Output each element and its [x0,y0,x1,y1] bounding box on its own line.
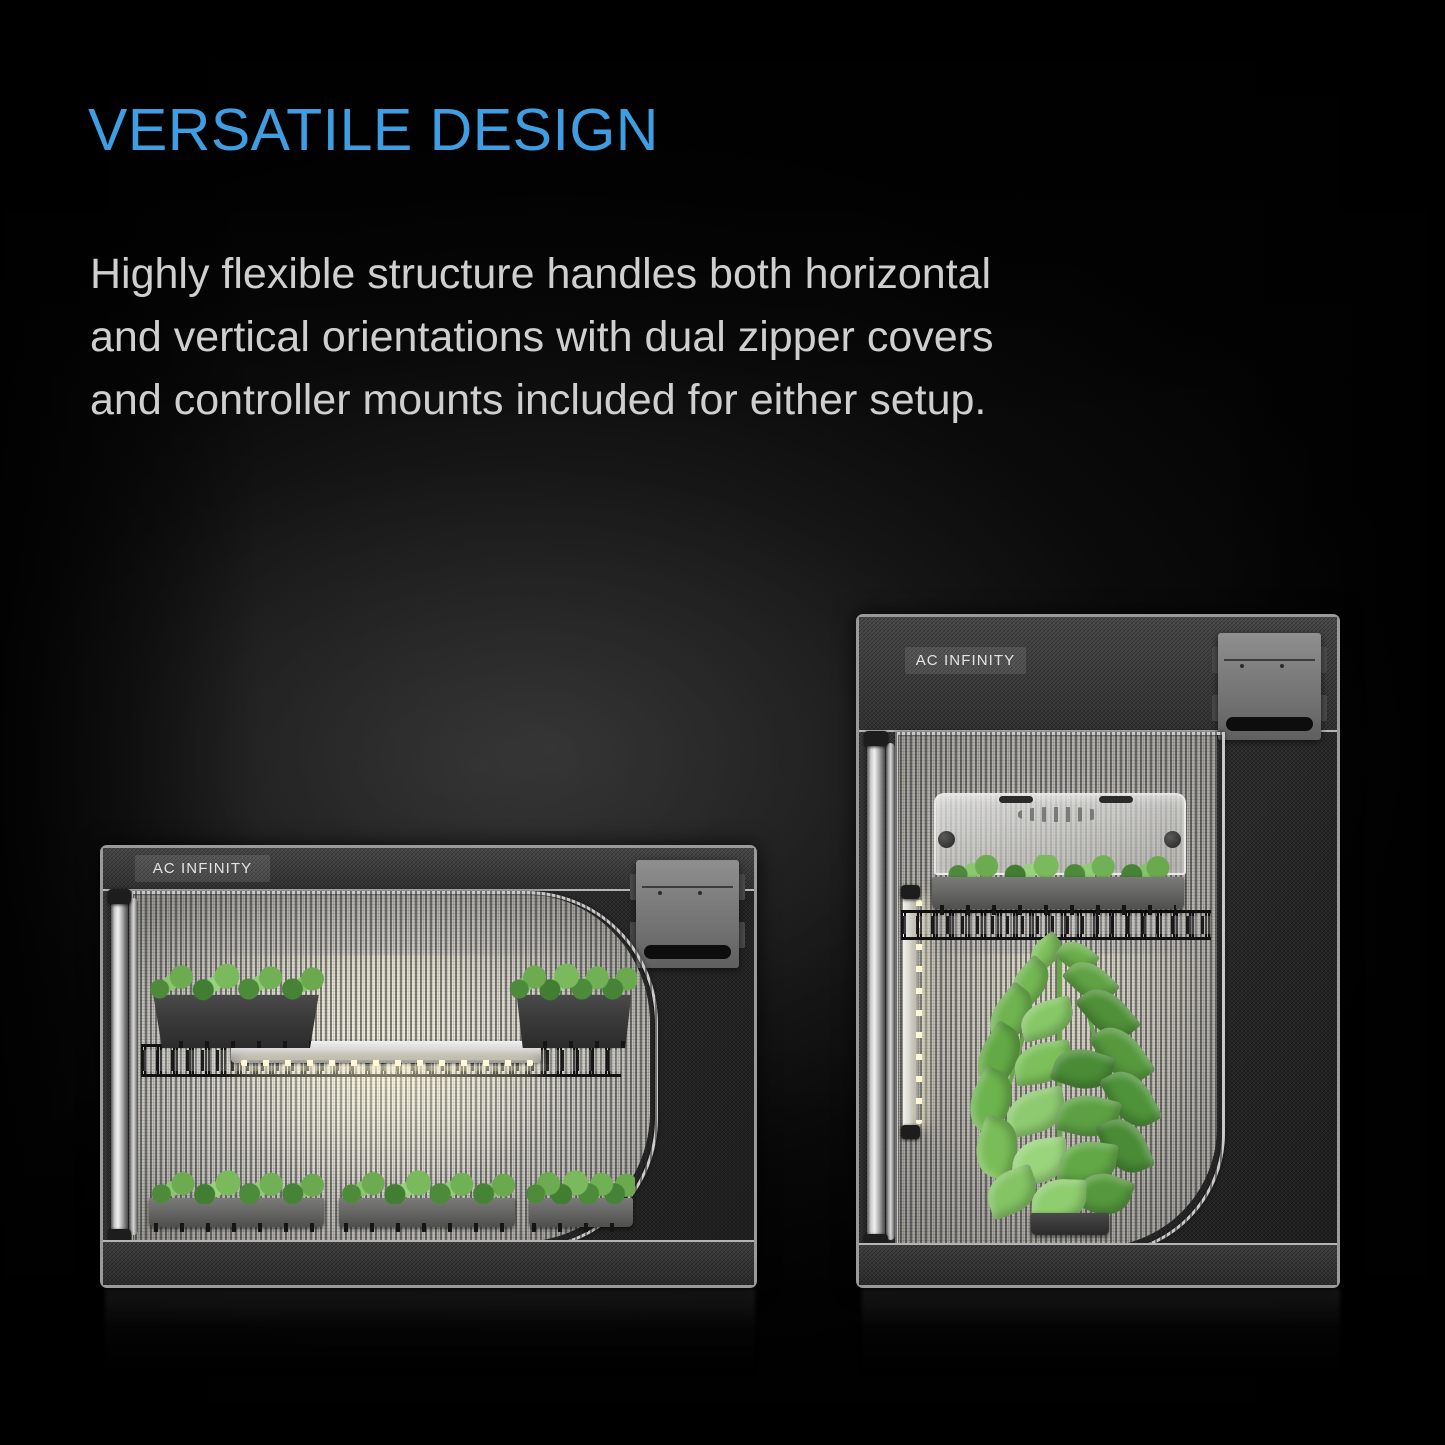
tray-feet [344,1223,509,1232]
tray-feet [940,905,1177,915]
dome-clip-left [999,796,1033,803]
roll-strap-top [108,889,131,904]
seedling-tray-upper [932,877,1184,909]
brand-logo-plate: AC INFINITY [905,647,1026,674]
dome-knob-right[interactable] [1164,831,1181,848]
rack-grid [901,916,1211,934]
right-tent-rolled-door[interactable] [867,739,885,1243]
bottom-band-texture [859,1245,1337,1285]
description-line-2: and vertical orientations with dual zipp… [90,306,1290,369]
grow-tent-vertical: AC INFINITY [856,614,1340,1288]
description-line-1: Highly flexible structure handles both h… [90,243,1290,306]
mount-screw-left [658,891,662,895]
brand-logo-label: AC INFINITY [916,652,1016,669]
dome-clip-right [1099,796,1133,803]
mount-seam-line [642,886,733,888]
dome-knob-left[interactable] [938,831,955,848]
seedling-tray-upper-right [513,995,635,1048]
controller-mount-plate[interactable] [1218,633,1321,740]
led-bracket-bottom [901,1125,920,1139]
right-tent-rolled-door-inner [886,743,895,1240]
mount-cable-slot [1226,717,1313,731]
description-line-3: and controller mounts included for eithe… [90,369,1290,432]
foliage-floor-left [147,1170,327,1204]
left-tent-rolled-door[interactable] [111,895,128,1238]
foliage-upper-left [145,961,327,1001]
right-controller-mount-area [1218,633,1321,740]
right-tent-bottom-band [859,1243,1337,1285]
brand-logo-plate: AC INFINITY [135,855,270,882]
tray-feet [532,1223,630,1232]
plant-pot [1031,1213,1109,1235]
grow-tent-horizontal: AC INFINITY [100,845,757,1288]
led-diodes [241,1060,533,1066]
left-controller-mount-area [636,860,739,968]
seedling-tray-upper-left [148,995,324,1048]
mount-seam-line [1224,659,1315,661]
dome-vent-slots [1018,807,1100,822]
roll-strap-top [864,731,888,746]
led-bracket-top [901,885,920,899]
mature-basil-plant [954,939,1169,1229]
bottom-band-texture [103,1242,754,1285]
page-title: VERSATILE DESIGN [88,96,659,164]
product-marketing-slide: VERSATILE DESIGN Highly flexible structu… [0,0,1445,1445]
foliage-floor-right [527,1170,635,1204]
controller-mount-plate[interactable] [636,860,739,968]
description-paragraph: Highly flexible structure handles both h… [90,243,1290,432]
mount-screw-left [1240,664,1244,668]
mount-screw-right [1280,664,1284,668]
mount-screw-right [698,891,702,895]
left-tent-rolled-door-inner [129,898,138,1235]
foliage-floor-center [337,1170,518,1204]
brand-logo-label: AC INFINITY [153,860,253,877]
left-tent-bottom-band [103,1240,754,1285]
mount-cable-slot [644,945,731,959]
tray-feet [154,1223,319,1232]
foliage-upper-right [509,961,637,1001]
